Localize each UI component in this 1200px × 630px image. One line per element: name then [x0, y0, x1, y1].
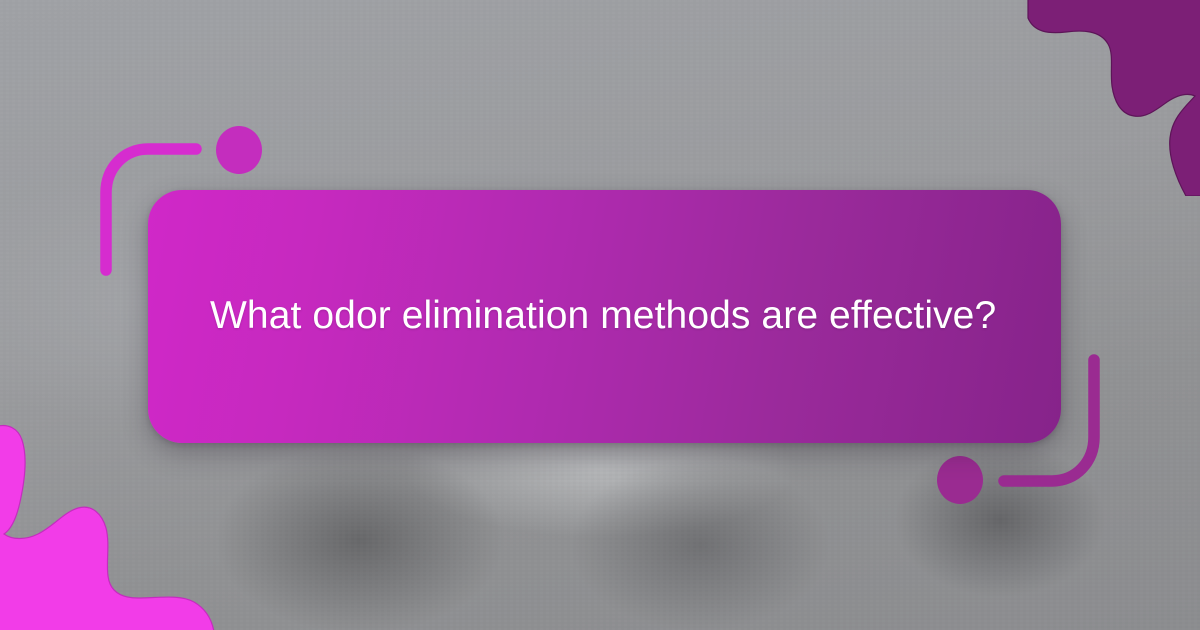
blob-bottom-left — [0, 422, 218, 630]
poster-canvas: What odor elimination methods are effect… — [0, 0, 1200, 630]
blob-top-right — [990, 0, 1200, 196]
question-card: What odor elimination methods are effect… — [148, 190, 1061, 443]
dot-bottom-right — [937, 456, 983, 504]
dot-top-left — [216, 126, 262, 174]
question-text: What odor elimination methods are effect… — [148, 292, 1058, 341]
